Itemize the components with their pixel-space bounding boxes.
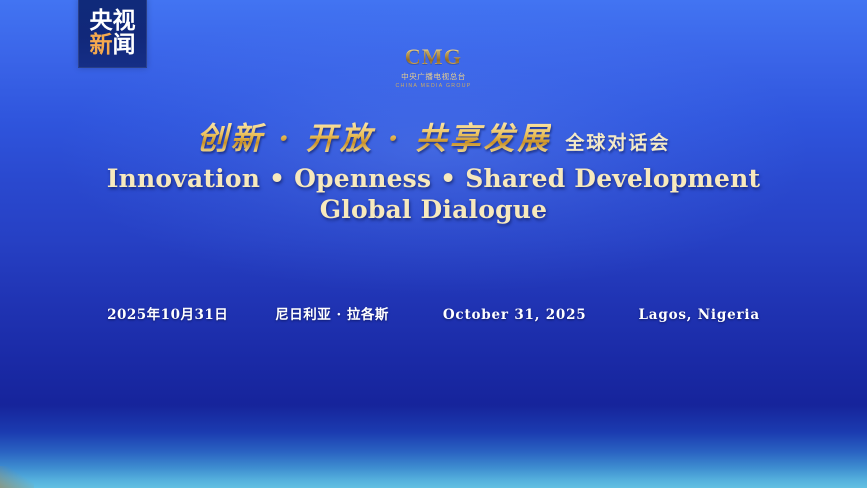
chinese-title-main: 创新 · 开放 · 共享发展 [197,113,552,158]
broadcast-title-card: 央 视 新 闻 CMG 中央广播电视总台 CHINA MEDIA GROUP 创… [0,0,867,488]
chinese-title-block: 创新 · 开放 · 共享发展 全球对话会 [0,113,867,158]
event-date-english: October 31, 2025 [443,307,587,323]
english-title-line-1: Innovation • Openness • Shared Developme… [0,163,867,194]
cctv-logo-glyph-yang: 央 [90,10,113,33]
event-location-english: Lagos, Nigeria [639,307,760,323]
english-title-line-2: Global Dialogue [0,194,867,225]
english-title-block: Innovation • Openness • Shared Developme… [0,163,867,225]
cctv-logo-glyph-shi: 视 [113,10,136,33]
cctv-logo-line-1: 央 视 [90,10,136,33]
cmg-chinese-name: 中央广播电视总台 [401,71,466,82]
event-location-chinese: 尼日利亚 · 拉各斯 [275,303,389,323]
chinese-title-subtitle: 全球对话会 [565,128,670,155]
event-date-chinese: 2025年10月31日 [107,303,228,323]
cmg-logo: CMG 中央广播电视总台 CHINA MEDIA GROUP [0,44,867,89]
cmg-english-name: CHINA MEDIA GROUP [396,83,472,89]
event-meta-row: 2025年10月31日 尼日利亚 · 拉各斯 October 31, 2025 … [0,303,867,323]
bottom-left-corner-tint [0,466,34,488]
cmg-wordmark: CMG [405,44,462,70]
